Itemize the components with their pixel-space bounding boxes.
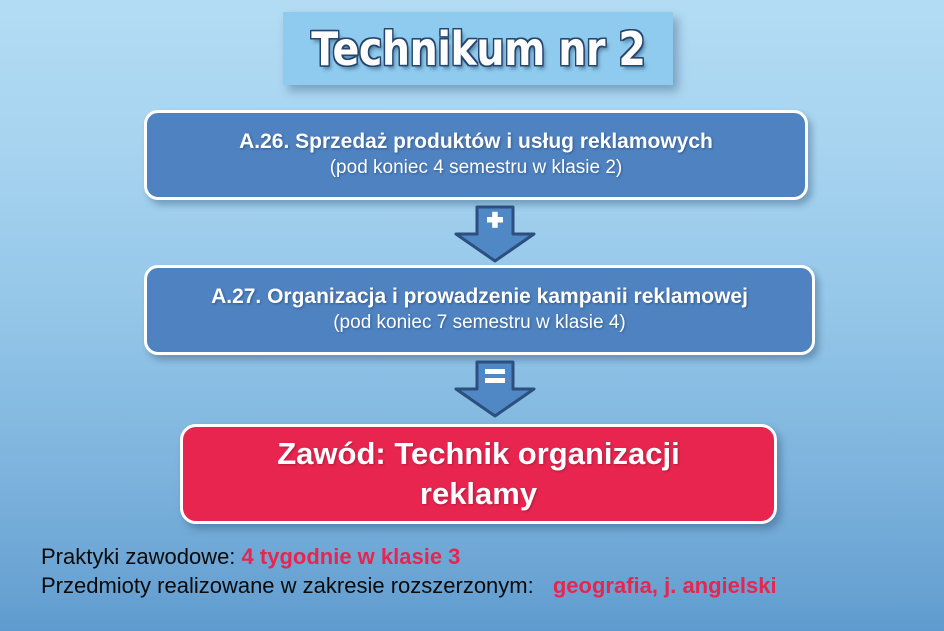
title-banner: Technikum nr 2 (283, 12, 673, 85)
down-arrow-equals-icon (452, 360, 538, 418)
extended-subjects-label: Przedmioty realizowane w zakresie rozsze… (41, 573, 534, 598)
internships-label: Praktyki zawodowe: (41, 544, 235, 569)
footer-line-extended-subjects: Przedmioty realizowane w zakresie rozsze… (41, 571, 911, 600)
footer-line-internships: Praktyki zawodowe: 4 tygodnie w klasie 3 (41, 542, 911, 571)
internships-value: 4 tygodnie w klasie 3 (242, 544, 461, 569)
result-box-profession: Zawód: Technik organizacji reklamy (180, 424, 777, 524)
qualification-timing: (pod koniec 4 semestru w klasie 2) (330, 157, 623, 180)
result-text: Zawód: Technik organizacji reklamy (277, 434, 680, 513)
result-line-1: Zawód: Technik organizacji (277, 436, 680, 471)
qualification-box-a26: A.26. Sprzedaż produktów i usług reklamo… (144, 110, 808, 200)
qualification-title: A.27. Organizacja i prowadzenie kampanii… (211, 285, 748, 309)
page-title: Technikum nr 2 (311, 26, 645, 72)
down-arrow-plus-icon (452, 205, 538, 263)
slide-canvas: Technikum nr 2 A.26. Sprzedaż produktów … (0, 0, 944, 631)
qualification-timing: (pod koniec 7 semestru w klasie 4) (333, 312, 626, 335)
result-line-2: reklamy (420, 476, 537, 511)
extended-subjects-value: geografia, j. angielski (553, 573, 777, 598)
footer-notes: Praktyki zawodowe: 4 tygodnie w klasie 3… (41, 542, 911, 600)
qualification-title: A.26. Sprzedaż produktów i usług reklamo… (239, 130, 713, 154)
qualification-box-a27: A.27. Organizacja i prowadzenie kampanii… (144, 265, 815, 355)
